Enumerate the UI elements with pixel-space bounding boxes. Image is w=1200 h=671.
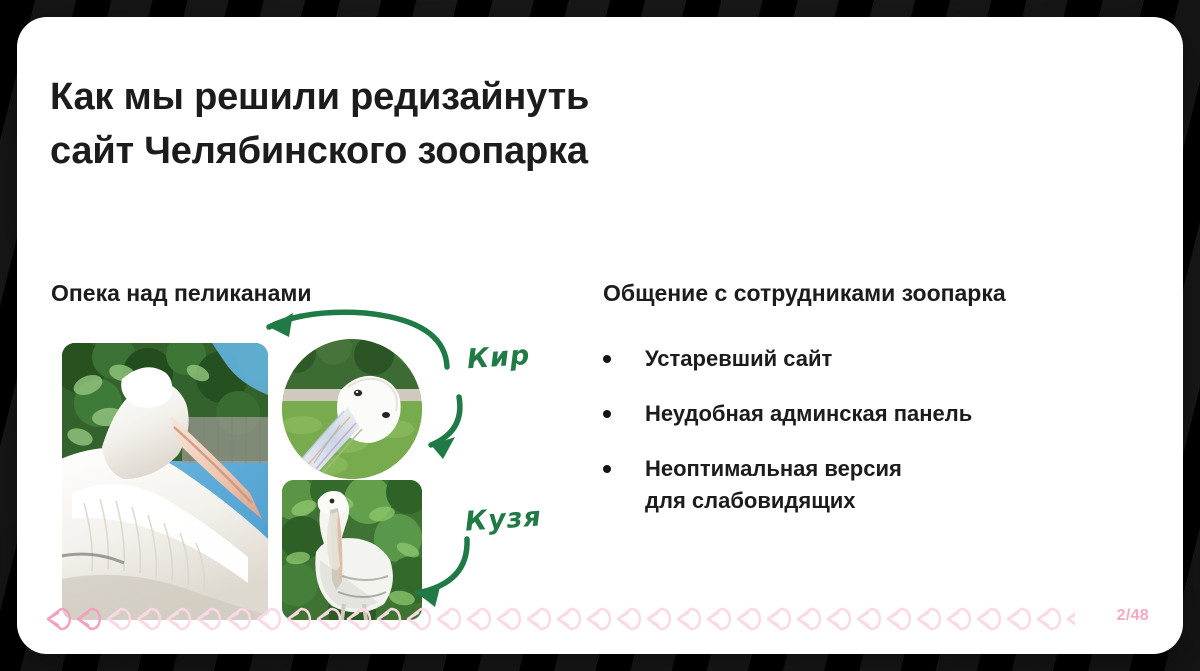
chevron-left-icon[interactable] xyxy=(105,607,132,631)
chevron-left-icon[interactable] xyxy=(465,607,492,631)
bullet-dot-icon xyxy=(603,465,611,473)
page-title: Как мы решили редизайнуть сайт Челябинск… xyxy=(50,71,810,179)
chevron-left-icon[interactable] xyxy=(1005,607,1032,631)
chevron-left-icon[interactable] xyxy=(165,607,192,631)
left-column-heading: Опека над пеликанами xyxy=(51,280,312,307)
chevron-left-icon[interactable] xyxy=(645,607,672,631)
chevron-left-icon[interactable] xyxy=(435,607,462,631)
chevron-left-icon[interactable] xyxy=(45,607,72,631)
list-item: Неудобная админская панель xyxy=(603,398,1123,429)
curved-arrow-left-mid-path xyxy=(431,397,460,445)
pelican-preening-illustration xyxy=(62,343,268,620)
chevron-left-icon[interactable] xyxy=(375,607,402,631)
chevron-left-icon[interactable] xyxy=(255,607,282,631)
chevron-left-icon[interactable] xyxy=(945,607,972,631)
chevron-left-icon[interactable] xyxy=(495,607,522,631)
chevron-left-icon[interactable] xyxy=(315,607,342,631)
list-item: Неоптимальная версия для слабовидящих xyxy=(603,453,1123,515)
chevron-left-icon[interactable] xyxy=(825,607,852,631)
chevron-left-icon[interactable] xyxy=(855,607,882,631)
chevron-left-icon[interactable] xyxy=(975,607,1002,631)
chevron-left-icon[interactable] xyxy=(525,607,552,631)
chevron-left-icon[interactable] xyxy=(915,607,942,631)
chevron-left-icon[interactable] xyxy=(1065,607,1075,631)
pelican-head-illustration xyxy=(282,339,422,479)
chevron-left-icon[interactable] xyxy=(225,607,252,631)
list-item: Устаревший сайт xyxy=(603,343,1123,374)
chevron-left-icon[interactable] xyxy=(345,607,372,631)
list-item-label: Устаревший сайт xyxy=(645,343,832,374)
chevron-left-icon[interactable] xyxy=(405,607,432,631)
chevron-left-icon[interactable] xyxy=(705,607,732,631)
chevron-left-icon[interactable] xyxy=(765,607,792,631)
chevron-left-icon[interactable] xyxy=(885,607,912,631)
arrowhead-top xyxy=(269,313,293,337)
bullet-list: Устаревший сайт Неудобная админская пане… xyxy=(603,343,1123,540)
curved-arrow-left-bottom-path xyxy=(417,539,467,593)
chevron-left-icon[interactable] xyxy=(795,607,822,631)
chevron-left-icon[interactable] xyxy=(615,607,642,631)
handwritten-label-kuza: Кузя xyxy=(464,501,543,537)
chevron-left-icon[interactable] xyxy=(195,607,222,631)
chevron-left-icon[interactable] xyxy=(735,607,762,631)
list-item-label: Неоптимальная версия для слабовидящих xyxy=(645,453,902,515)
chevron-left-icon[interactable] xyxy=(135,607,162,631)
list-item-label: Неудобная админская панель xyxy=(645,398,972,429)
slide-footer: 2/48 xyxy=(17,596,1183,654)
bullet-dot-icon xyxy=(603,410,611,418)
right-column-heading: Общение с сотрудниками зоопарка xyxy=(603,280,1006,307)
page-number: 2/48 xyxy=(1117,607,1149,625)
chevron-left-icon[interactable] xyxy=(285,607,312,631)
bullet-dot-icon xyxy=(603,355,611,363)
chevron-left-icon[interactable] xyxy=(675,607,702,631)
progress-indicator[interactable] xyxy=(45,604,1075,634)
chevron-left-icon[interactable] xyxy=(555,607,582,631)
chevron-left-icon[interactable] xyxy=(1035,607,1062,631)
chevron-left-icon[interactable] xyxy=(75,607,102,631)
pelican-preening-photo xyxy=(62,343,268,620)
handwritten-label-kir: Кир xyxy=(466,340,531,375)
slide-card: Как мы решили редизайнуть сайт Челябинск… xyxy=(17,17,1183,654)
chevron-left-icon[interactable] xyxy=(585,607,612,631)
pelican-head-photo xyxy=(282,339,422,479)
arrowhead-mid xyxy=(431,437,455,459)
